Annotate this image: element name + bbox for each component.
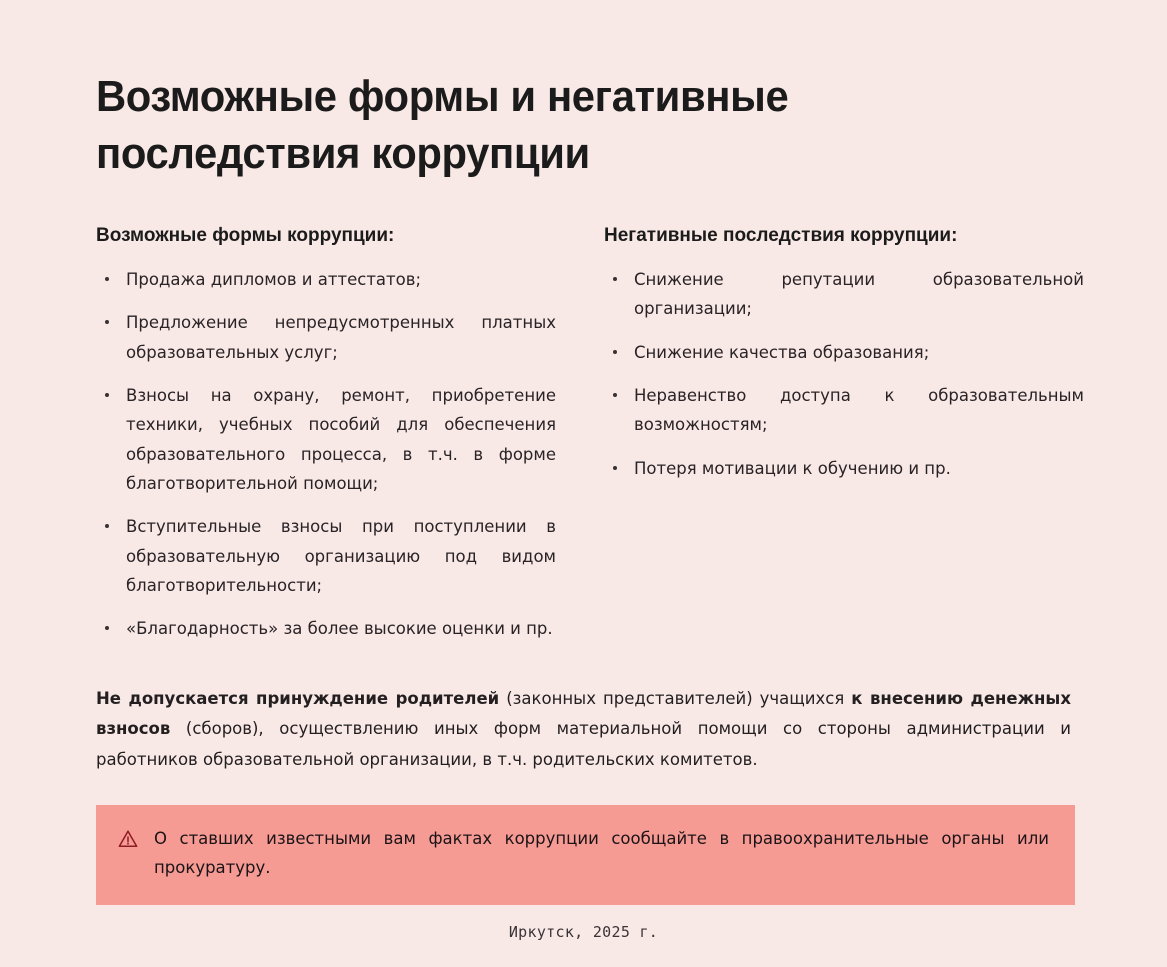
list-item: Потеря мотивации к обучению и пр.: [604, 454, 1084, 483]
notice-paragraph: Не допускается принуждение родителей (за…: [96, 684, 1071, 776]
notice-segment-plain: (сборов), осуществлению иных форм матери…: [96, 719, 1071, 769]
slide-footer: Иркутск, 2025 г.: [0, 923, 1167, 941]
column-negative-consequences: Негативные последствия коррупции: Снижен…: [604, 224, 1084, 644]
warning-triangle-icon: [118, 829, 138, 849]
bullet-list-negative-consequences: Снижение репутации образовательной орган…: [604, 265, 1084, 483]
columns-container: Возможные формы коррупции: Продажа дипло…: [96, 224, 1071, 644]
notice-segment-plain: (законных представителей) учащихся: [499, 689, 851, 708]
warning-banner-text: О ставших известными вам фактах коррупци…: [154, 825, 1049, 883]
list-item: Снижение качества образования;: [604, 338, 1084, 367]
warning-banner: О ставших известными вам фактах коррупци…: [96, 805, 1075, 905]
notice-segment-bold: Не допускается принуждение родителей: [96, 689, 499, 708]
column-possible-forms: Возможные формы коррупции: Продажа дипло…: [96, 224, 556, 644]
list-item: «Благодарность» за более высокие оценки …: [96, 614, 556, 643]
bullet-list-possible-forms: Продажа дипломов и аттестатов; Предложен…: [96, 265, 556, 644]
slide-root: Возможные формы и негативные последствия…: [0, 29, 1167, 967]
list-item: Продажа дипломов и аттестатов;: [96, 265, 556, 294]
list-item: Взносы на охрану, ремонт, приобретение т…: [96, 381, 556, 498]
column-heading-possible-forms: Возможные формы коррупции:: [96, 224, 556, 249]
list-item: Вступительные взносы при поступлении в о…: [96, 512, 556, 600]
list-item: Снижение репутации образовательной орган…: [604, 265, 1084, 324]
list-item: Предложение непредусмотренных платных об…: [96, 308, 556, 367]
slide-title: Возможные формы и негативные последствия…: [96, 29, 951, 182]
column-heading-negative-consequences: Негативные последствия коррупции:: [604, 224, 1084, 249]
list-item: Неравенство доступа к образовательным во…: [604, 381, 1084, 440]
